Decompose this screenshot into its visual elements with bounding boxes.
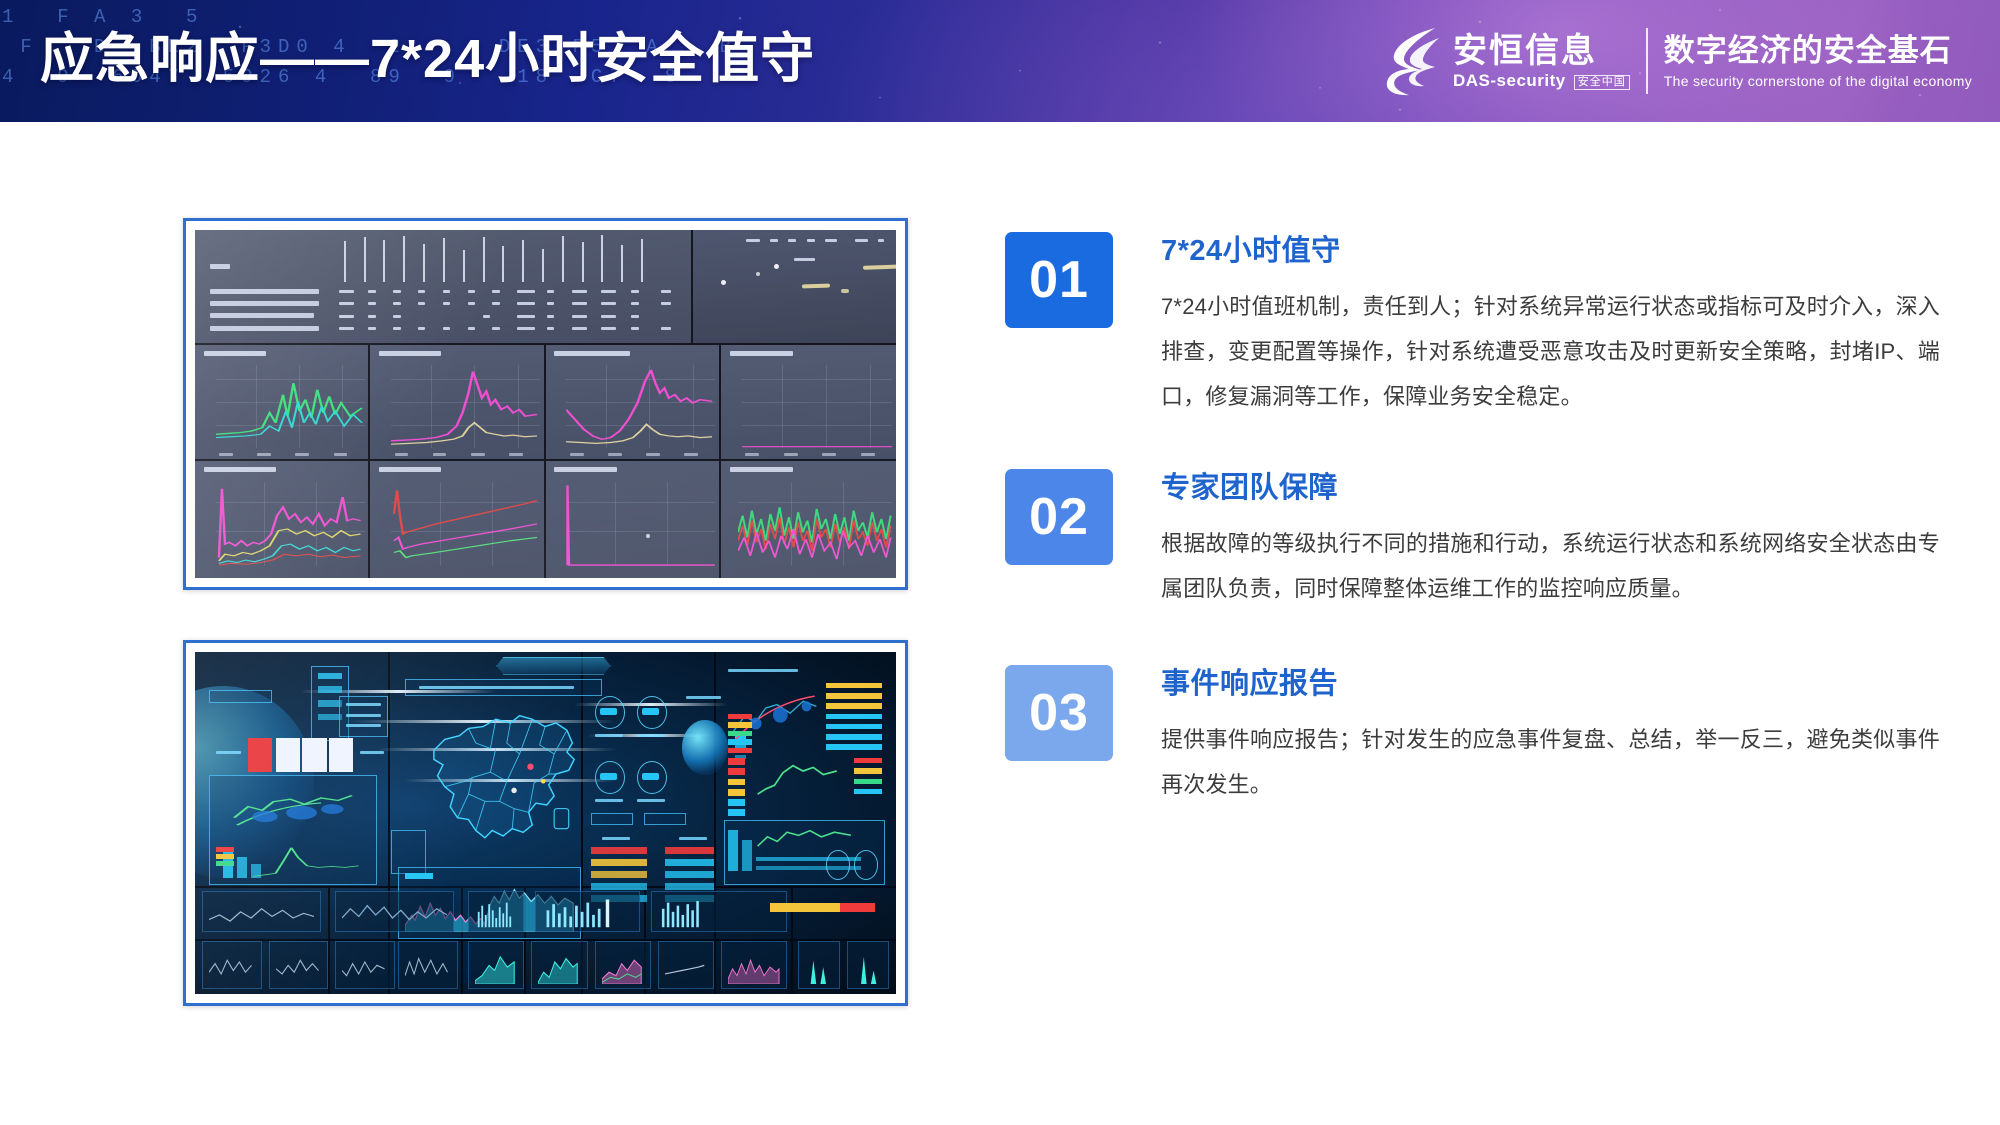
brand-logo: 安恒信息 DAS-security 安全中国 数字经济的安全基石 The sec… xyxy=(1383,18,1972,104)
feature-item: 02 专家团队保障 根据故障的等级执行不同的措施和行动，系统运行状态和系统网络安… xyxy=(1005,469,1940,611)
feature-item: 03 事件响应报告 提供事件响应报告；针对发生的应急事件复盘、总结，举一反三，避… xyxy=(1005,665,1940,807)
chart-cell xyxy=(370,461,545,578)
brand-name-block: 安恒信息 DAS-security 安全中国 xyxy=(1453,32,1630,90)
chart-cell xyxy=(721,461,896,578)
item-description: 7*24小时值班机制，责任到人；针对系统异常运行状态或指标可及时介入，深入排查，… xyxy=(1161,284,1940,419)
slogan-en: The security cornerstone of the digital … xyxy=(1664,72,1972,90)
chart-cell xyxy=(546,461,721,578)
chart-cell xyxy=(721,345,896,462)
pie-globe-visual xyxy=(682,720,728,775)
side-screen-panel xyxy=(693,230,896,345)
company-name-cn: 安恒信息 xyxy=(1453,32,1630,70)
soc-bigscreen-photo xyxy=(183,640,908,1006)
china-map-visual xyxy=(412,700,594,861)
page-title: 应急响应——7*24小时安全值守 xyxy=(40,14,815,93)
item-description: 提供事件响应报告；针对发生的应急事件复盘、总结，举一反三，避免类似事件再次发生。 xyxy=(1161,717,1940,807)
chart-cell xyxy=(195,461,370,578)
feature-item-list: 01 7*24小时值守 7*24小时值班机制，责任到人；针对系统异常运行状态或指… xyxy=(1005,232,1940,807)
feature-item: 01 7*24小时值守 7*24小时值班机制，责任到人；针对系统异常运行状态或指… xyxy=(1005,232,1940,419)
company-name-en: DAS-security xyxy=(1453,72,1566,90)
soc-bigscreen-image xyxy=(195,652,896,994)
chart-cell xyxy=(370,345,545,462)
monitoring-wall-image xyxy=(195,230,896,578)
page-banner: 1 F A 3 5 F D BE2 F3D0 4 2 DE3 F5 A B 4 … xyxy=(0,0,2000,122)
item-heading: 专家团队保障 xyxy=(1161,471,1940,505)
metrics-table-panel xyxy=(195,230,693,345)
item-heading: 7*24小时值守 xyxy=(1161,234,1940,268)
slogan-cn: 数字经济的安全基石 xyxy=(1664,33,1972,69)
item-description: 根据故障的等级执行不同的措施和行动，系统运行状态和系统网络安全状态由专属团队负责… xyxy=(1161,521,1940,611)
soc-screen-headline xyxy=(496,657,610,674)
das-security-swoosh-icon xyxy=(1383,24,1445,98)
item-number-badge: 01 xyxy=(1005,232,1113,328)
logo-divider xyxy=(1646,28,1648,94)
chart-cell xyxy=(195,345,370,462)
chart-cell xyxy=(546,345,721,462)
company-badge-cn: 安全中国 xyxy=(1574,75,1630,90)
item-number-badge: 03 xyxy=(1005,665,1113,761)
brand-slogan-block: 数字经济的安全基石 The security cornerstone of th… xyxy=(1664,33,1972,90)
item-heading: 事件响应报告 xyxy=(1161,667,1940,701)
monitoring-wall-photo xyxy=(183,218,908,590)
item-number-badge: 02 xyxy=(1005,469,1113,565)
